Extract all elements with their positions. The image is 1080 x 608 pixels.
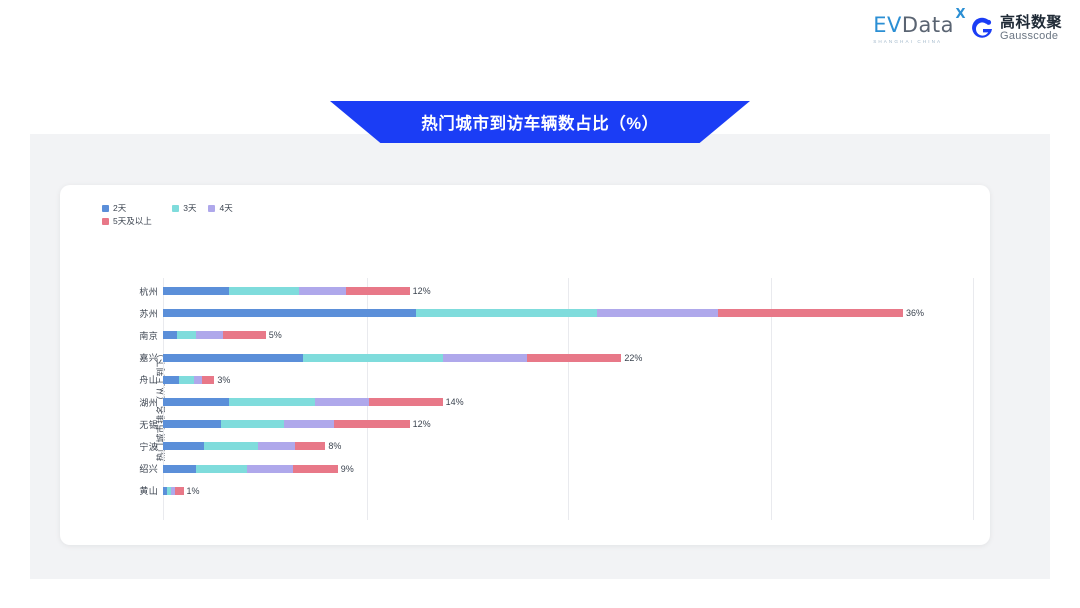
legend-swatch-1 — [172, 205, 179, 212]
bar-value-label: 5% — [269, 331, 282, 339]
bar-segment-4天[interactable] — [247, 465, 292, 473]
y-axis-label-嘉兴: 嘉兴 — [118, 351, 158, 364]
bar-value-label: 14% — [446, 398, 464, 406]
legend-item-3[interactable]: 5天及以上 — [102, 215, 152, 228]
bar-segment-4天[interactable] — [196, 331, 223, 339]
gausscode-cn-label: 高科数聚 — [1000, 15, 1062, 31]
bar-segment-3天[interactable] — [221, 420, 285, 428]
bar-segment-2天[interactable] — [163, 398, 229, 406]
evdata-logo: EVData X shanghai china — [873, 15, 954, 44]
stacked-bar[interactable] — [163, 287, 410, 295]
bar-segment-4天[interactable] — [194, 376, 202, 384]
bar-segment-3天[interactable] — [229, 398, 315, 406]
bar-segment-3天[interactable] — [303, 354, 443, 362]
y-axis-label-舟山: 舟山 — [118, 373, 158, 386]
y-axis-label-绍兴: 绍兴 — [118, 462, 158, 475]
chart-row: 黄山1% — [60, 480, 990, 502]
legend-swatch-3 — [102, 218, 109, 225]
gausscode-mark-icon — [970, 17, 994, 41]
bar-segment-5天及以上[interactable] — [527, 354, 622, 362]
y-axis-label-宁波: 宁波 — [118, 440, 158, 453]
content-panel: 2天 3天 4天 5天及以上 — [30, 134, 1050, 579]
bar-segment-2天[interactable] — [163, 331, 177, 339]
bar-segment-5天及以上[interactable] — [293, 465, 338, 473]
bar-segment-4天[interactable] — [299, 287, 346, 295]
bar-segment-5天及以上[interactable] — [175, 487, 183, 495]
evdata-ev-text: EV — [873, 13, 902, 37]
chart-row: 绍兴9% — [60, 458, 990, 480]
legend-swatch-0 — [102, 205, 109, 212]
legend-row-bottom: 5天及以上 — [102, 215, 432, 228]
bar-segment-5天及以上[interactable] — [369, 398, 443, 406]
bar-value-label: 9% — [341, 465, 354, 473]
bar-segment-3天[interactable] — [177, 331, 196, 339]
legend-label-3: 5天及以上 — [113, 215, 152, 228]
gausscode-logo: 高科数聚 Gausscode — [970, 15, 1062, 42]
stacked-bar[interactable] — [163, 398, 443, 406]
chart-row: 无锡12% — [60, 413, 990, 435]
bar-value-label: 22% — [624, 354, 642, 362]
chart-legend: 2天 3天 4天 5天及以上 — [102, 202, 432, 228]
brand-header: EVData X shanghai china 高科数聚 Gausscode — [0, 0, 1080, 58]
bar-value-label: 12% — [413, 420, 431, 428]
bar-segment-3天[interactable] — [229, 287, 299, 295]
stacked-bar[interactable] — [163, 309, 903, 317]
stacked-bar[interactable] — [163, 487, 184, 495]
legend-label-0: 2天 — [113, 202, 126, 215]
chart-card: 2天 3天 4天 5天及以上 — [60, 185, 990, 545]
bar-segment-5天及以上[interactable] — [718, 309, 903, 317]
bar-value-label: 3% — [217, 376, 230, 384]
chart-row: 南京5% — [60, 324, 990, 346]
logo-group: EVData X shanghai china 高科数聚 Gausscode — [873, 15, 1062, 44]
bar-segment-3天[interactable] — [416, 309, 597, 317]
evdata-wordmark: EVData X — [873, 15, 954, 36]
chart-row: 宁波8% — [60, 435, 990, 457]
legend-label-1: 3天 — [183, 202, 196, 215]
bar-segment-2天[interactable] — [163, 287, 229, 295]
chart-plot-area: 热门城市排名（从上到下） 杭州12%苏州36%南京5%嘉兴22%舟山3%湖州14… — [60, 280, 990, 530]
bar-segment-5天及以上[interactable] — [223, 331, 266, 339]
bar-segment-3天[interactable] — [204, 442, 257, 450]
evdata-data-text: Data — [902, 13, 954, 37]
stacked-bar[interactable] — [163, 465, 338, 473]
chart-row: 舟山3% — [60, 369, 990, 391]
gausscode-en-label: Gausscode — [1000, 31, 1062, 43]
bar-segment-3天[interactable] — [179, 376, 193, 384]
bar-segment-2天[interactable] — [163, 442, 204, 450]
legend-swatch-2 — [208, 205, 215, 212]
legend-item-0[interactable]: 2天 — [102, 202, 126, 215]
chart-bar-rows: 杭州12%苏州36%南京5%嘉兴22%舟山3%湖州14%无锡12%宁波8%绍兴9… — [60, 280, 990, 502]
chart-row: 嘉兴22% — [60, 347, 990, 369]
evdata-x-icon: X — [955, 8, 966, 21]
bar-segment-2天[interactable] — [163, 465, 196, 473]
legend-item-1[interactable]: 3天 — [172, 202, 196, 215]
bar-segment-4天[interactable] — [315, 398, 368, 406]
gausscode-text: 高科数聚 Gausscode — [1000, 15, 1062, 42]
legend-row-top: 2天 3天 4天 — [102, 202, 432, 215]
bar-segment-2天[interactable] — [163, 376, 179, 384]
chart-row: 湖州14% — [60, 391, 990, 413]
stacked-bar[interactable] — [163, 331, 266, 339]
y-axis-label-湖州: 湖州 — [118, 396, 158, 409]
chart-row: 杭州12% — [60, 280, 990, 302]
bar-segment-2天[interactable] — [163, 354, 303, 362]
bar-segment-4天[interactable] — [443, 354, 527, 362]
chart-row: 苏州36% — [60, 302, 990, 324]
stacked-bar[interactable] — [163, 376, 214, 384]
evdata-tagline: shanghai china — [873, 39, 942, 44]
stacked-bar[interactable] — [163, 420, 410, 428]
bar-value-label: 1% — [187, 487, 200, 495]
y-axis-label-南京: 南京 — [118, 329, 158, 342]
y-axis-label-苏州: 苏州 — [118, 307, 158, 320]
bar-segment-3天[interactable] — [196, 465, 247, 473]
bar-value-label: 36% — [906, 309, 924, 317]
bar-segment-4天[interactable] — [597, 309, 718, 317]
y-axis-label-黄山: 黄山 — [118, 484, 158, 497]
bar-segment-2天[interactable] — [163, 420, 221, 428]
stacked-bar[interactable] — [163, 442, 325, 450]
legend-item-2[interactable]: 4天 — [208, 202, 232, 215]
page-title: 热门城市到访车辆数占比（%） — [330, 101, 750, 143]
bar-segment-5天及以上[interactable] — [346, 287, 410, 295]
stacked-bar[interactable] — [163, 354, 621, 362]
bar-segment-2天[interactable] — [163, 309, 416, 317]
legend-label-2: 4天 — [219, 202, 232, 215]
y-axis-label-杭州: 杭州 — [118, 285, 158, 298]
bar-segment-4天[interactable] — [258, 442, 295, 450]
bar-segment-5天及以上[interactable] — [334, 420, 410, 428]
bar-segment-5天及以上[interactable] — [295, 442, 326, 450]
bar-segment-5天及以上[interactable] — [202, 376, 214, 384]
bar-value-label: 12% — [413, 287, 431, 295]
y-axis-label-无锡: 无锡 — [118, 418, 158, 431]
bar-value-label: 8% — [328, 442, 341, 450]
bar-segment-4天[interactable] — [284, 420, 333, 428]
